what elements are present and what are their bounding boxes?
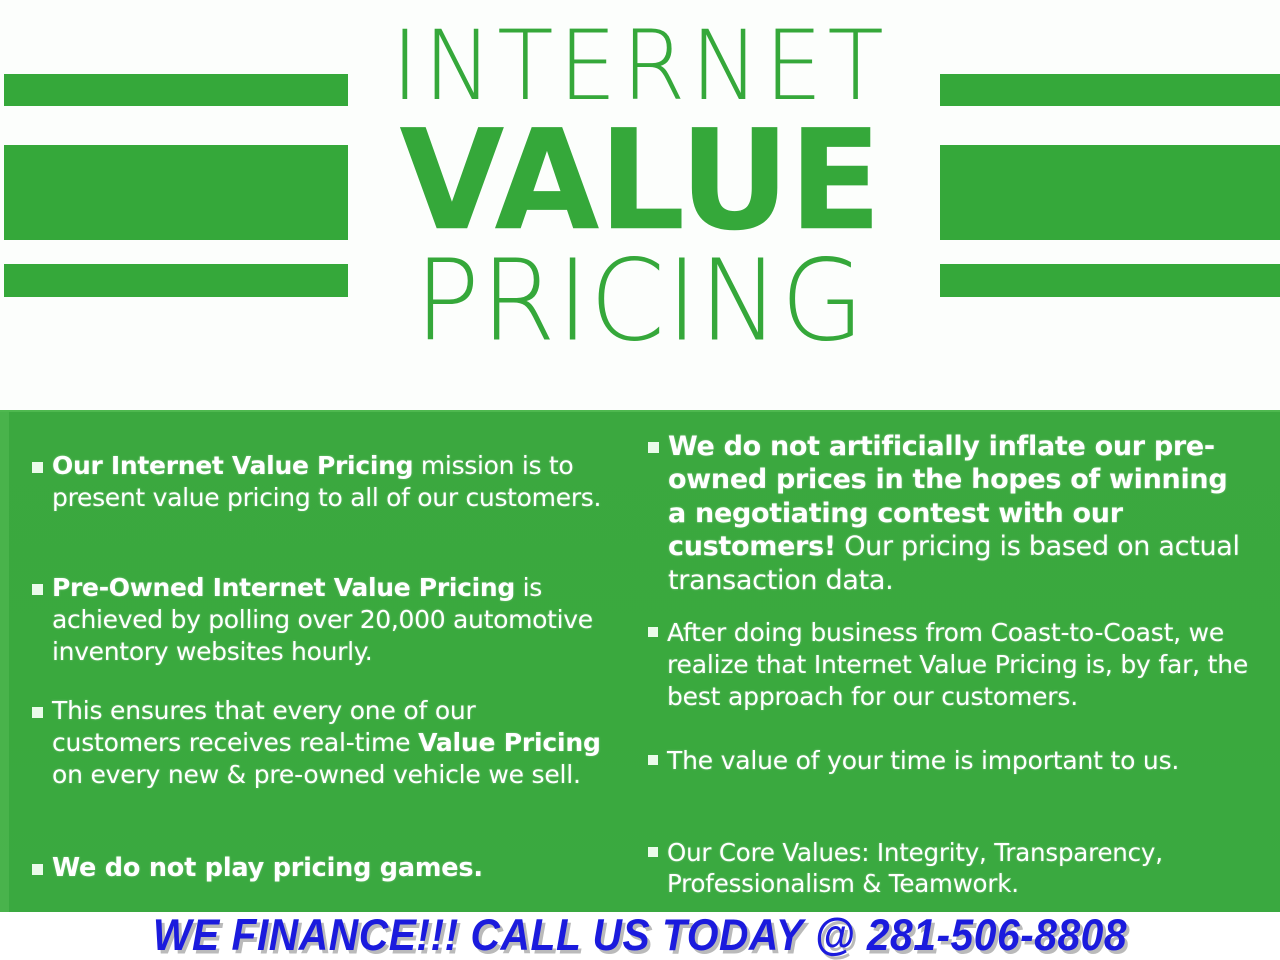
list-item: After doing business from Coast-to-Coast…: [648, 617, 1263, 713]
list-item-text: This ensures that every one of our custo…: [52, 695, 612, 791]
bullet-square-icon: [32, 584, 43, 595]
finance-banner-text: WE FINANCE!!! CALL US TODAY @ 281-506-88…: [0, 912, 1280, 960]
list-item-bold: Pre-Owned Internet Value Pricing: [52, 573, 515, 602]
list-item-pre: This ensures that every one of our custo…: [52, 696, 476, 757]
bullet-column-right: We do not artificially inflate our pre-o…: [640, 412, 1265, 914]
bullet-square-icon: [648, 755, 658, 765]
list-item-bold: Value Pricing: [418, 728, 601, 757]
list-item-pre: The value of your time is important to u…: [667, 746, 1179, 775]
list-item-text: After doing business from Coast-to-Coast…: [667, 617, 1263, 713]
logo-header: INTERNET VALUE PRICING: [0, 0, 1280, 410]
list-item: Our Internet Value Pricing mission is to…: [32, 450, 612, 514]
list-item-bold: We do not play pricing games.: [52, 853, 483, 883]
list-item: This ensures that every one of our custo…: [32, 695, 612, 791]
flyer-page: INTERNET VALUE PRICING Our Internet Valu…: [0, 0, 1280, 960]
bullet-column-left: Our Internet Value Pricing mission is to…: [20, 412, 630, 914]
bullet-square-icon: [32, 864, 43, 875]
green-content-panel: Our Internet Value Pricing mission is to…: [0, 410, 1280, 912]
logo-word-value: VALUE: [0, 112, 1280, 251]
bullet-square-icon: [648, 442, 659, 453]
bullet-square-icon: [648, 847, 658, 857]
list-item-post: on every new & pre-owned vehicle we sell…: [52, 760, 581, 789]
list-item-pre: After doing business from Coast-to-Coast…: [667, 618, 1248, 711]
list-item-text: We do not play pricing games.: [52, 852, 483, 885]
list-item-pre: Our Core Values: Integrity, Transparency…: [667, 838, 1163, 898]
finance-banner: WE FINANCE!!! CALL US TODAY @ 281-506-88…: [0, 912, 1280, 960]
list-item-text: The value of your time is important to u…: [667, 745, 1179, 777]
list-item-bold: Our Internet Value Pricing: [52, 451, 413, 480]
list-item: We do not artificially inflate our pre-o…: [648, 430, 1248, 597]
list-item: Pre-Owned Internet Value Pricing is achi…: [32, 572, 612, 668]
list-item-text: Our Core Values: Integrity, Transparency…: [667, 837, 1263, 900]
list-item-text: We do not artificially inflate our pre-o…: [668, 430, 1248, 597]
bullet-square-icon: [648, 627, 658, 637]
list-item: We do not play pricing games.: [32, 852, 612, 885]
list-item-text: Pre-Owned Internet Value Pricing is achi…: [52, 572, 612, 668]
logo-word-pricing: PRICING: [0, 246, 1280, 358]
list-item: The value of your time is important to u…: [648, 745, 1248, 777]
bullet-square-icon: [32, 707, 43, 718]
list-item: Our Core Values: Integrity, Transparency…: [648, 837, 1263, 900]
list-item-text: Our Internet Value Pricing mission is to…: [52, 450, 612, 514]
bullet-square-icon: [32, 462, 43, 473]
